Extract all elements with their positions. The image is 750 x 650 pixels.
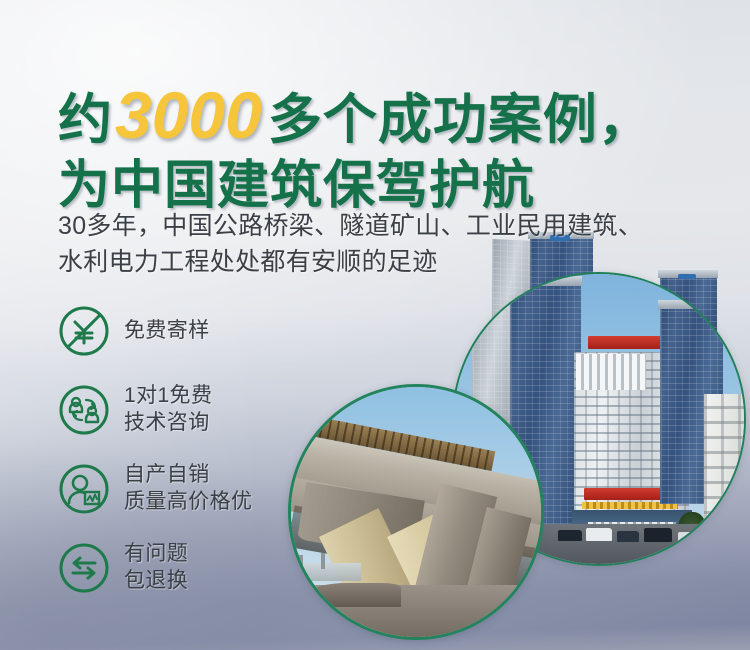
feature-label-line-1: 免费寄样 <box>124 318 210 345</box>
return-exchange-icon <box>58 542 110 594</box>
feature-label-return-exchange: 有问题 包退换 <box>124 541 188 595</box>
feature-item-free-sample: 免费寄样 <box>58 300 252 362</box>
headline: 约3000多个成功案例， 为中国建筑保驾护航 <box>58 82 653 212</box>
feature-item-self-produce: 自产自销 质量高价格优 <box>58 458 252 520</box>
headline-prefix: 约 <box>58 90 113 150</box>
feature-label-line-1: 有问题 <box>124 541 188 568</box>
headline-slogan: 为中国建筑保驾护航 <box>58 157 535 215</box>
subtitle-line-1: 30多年，中国公路桥梁、隧道矿山、工业民用建筑、 <box>58 208 643 244</box>
feature-list: 免费寄样 1对1免费 技术咨询 <box>58 300 252 616</box>
feature-item-consult: 1对1免费 技术咨询 <box>58 379 252 441</box>
feature-label-line-1: 自产自销 <box>124 462 252 489</box>
headline-line-1: 约3000多个成功案例， <box>58 82 653 148</box>
headline-suffix: 多个成功案例， <box>268 90 653 150</box>
feature-label-consult: 1对1免费 技术咨询 <box>124 383 212 437</box>
feature-label-line-1: 1对1免费 <box>124 383 212 410</box>
subtitle-line-2: 水利电力工程处处都有安顺的足迹 <box>58 244 643 280</box>
promo-banner: 约3000多个成功案例， 为中国建筑保驾护航 30多年，中国公路桥梁、隧道矿山、… <box>0 0 750 650</box>
feature-item-return-exchange: 有问题 包退换 <box>58 537 252 599</box>
headline-line-2: 为中国建筑保驾护航 <box>58 160 653 212</box>
bridge-photo <box>288 384 544 640</box>
headline-number: 3000 <box>115 78 262 152</box>
feature-label-line-2: 包退换 <box>124 568 188 595</box>
feature-label-free-sample: 免费寄样 <box>124 318 210 345</box>
feature-label-self-produce: 自产自销 质量高价格优 <box>124 462 252 516</box>
subtitle: 30多年，中国公路桥梁、隧道矿山、工业民用建筑、 水利电力工程处处都有安顺的足迹 <box>58 208 643 281</box>
one-on-one-consult-icon <box>58 384 110 436</box>
feature-label-line-2: 技术咨询 <box>124 410 212 437</box>
self-produce-sell-icon <box>58 463 110 515</box>
free-sample-icon <box>58 305 110 357</box>
feature-label-line-2: 质量高价格优 <box>124 489 252 516</box>
